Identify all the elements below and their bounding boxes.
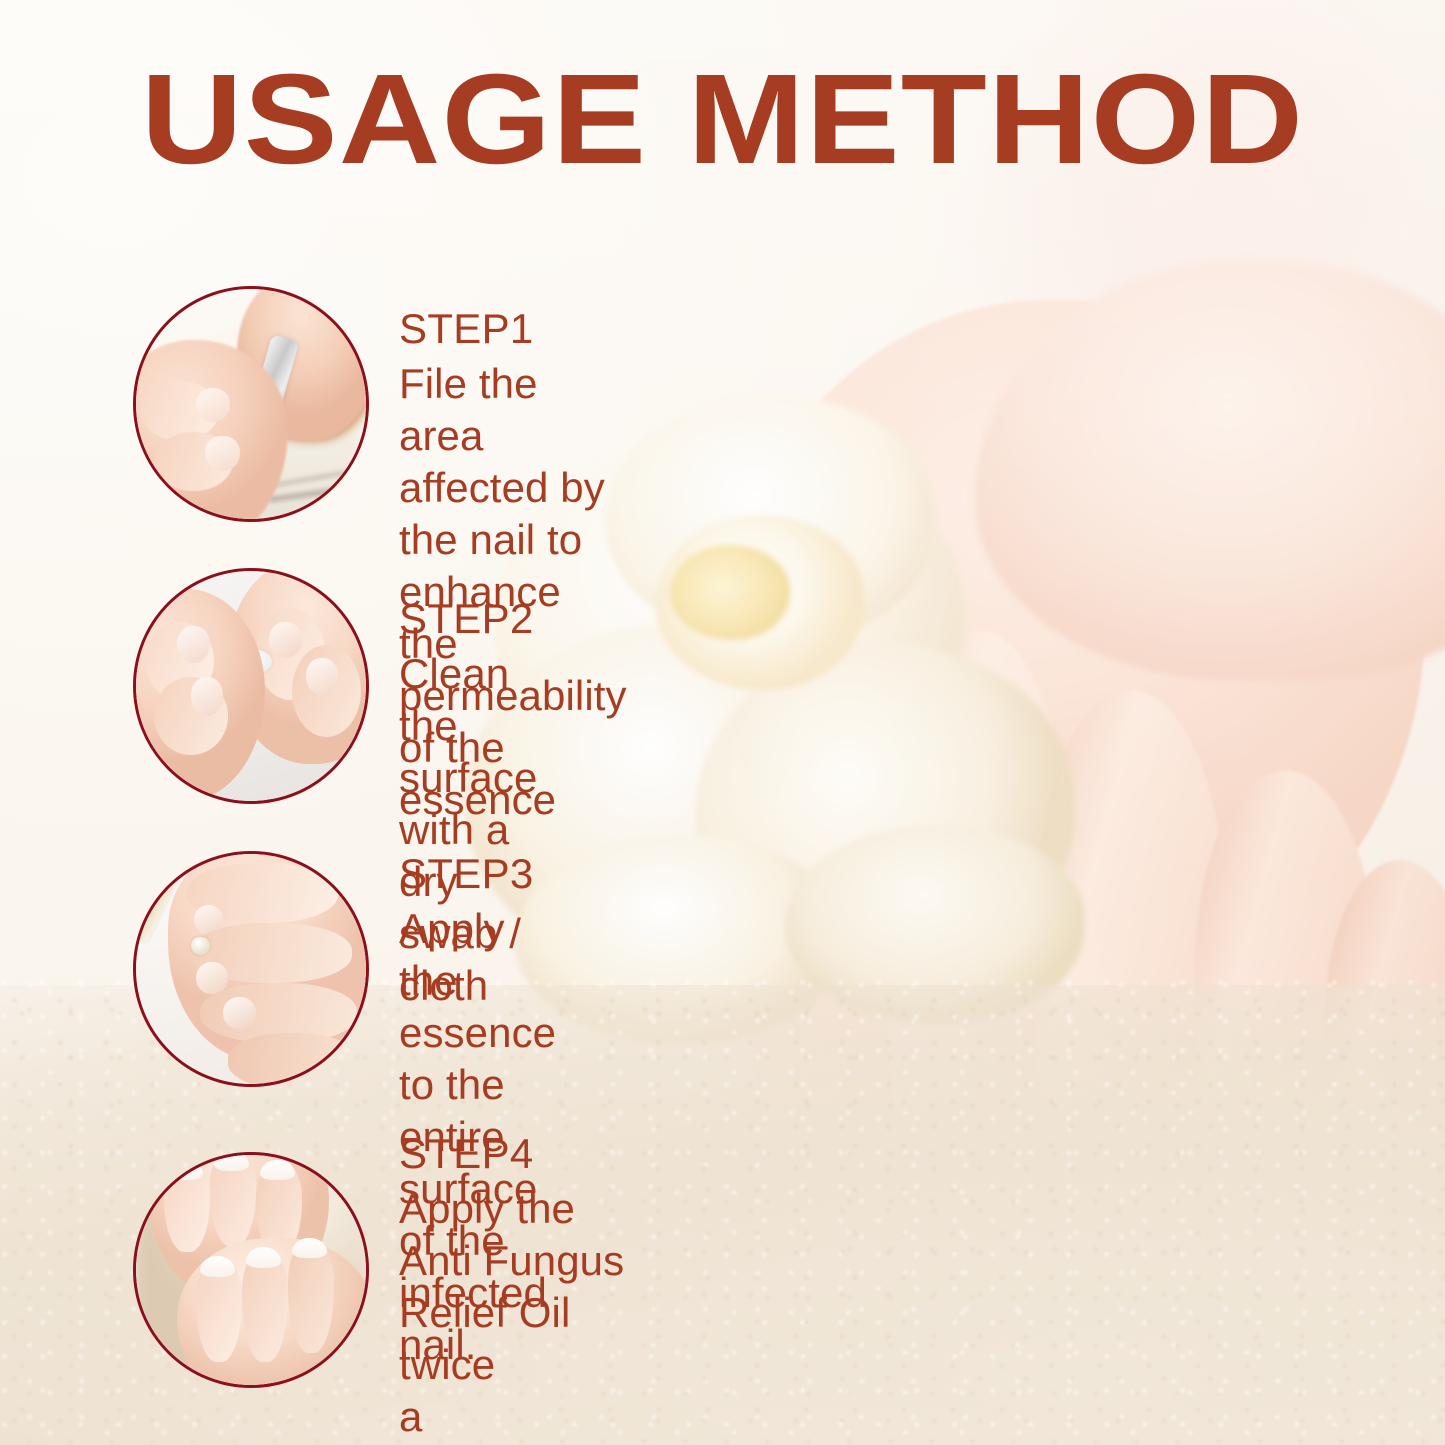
nail-filing-photo [136, 289, 366, 519]
step-4-label: STEP4 [399, 1128, 534, 1180]
step-2-label: STEP2 [399, 593, 534, 645]
step-2-image-circle [133, 568, 369, 804]
step-3-image-circle [133, 851, 369, 1087]
step-4-image-circle [133, 1152, 369, 1388]
dropper-apply-photo [136, 854, 366, 1084]
step-3-label: STEP3 [399, 848, 534, 900]
step-4-body: Apply the Anti Fungus Relief Oil twice a… [399, 1183, 634, 1445]
step-1-image-circle [133, 286, 369, 522]
page-title: USAGE METHOD [0, 56, 1445, 184]
step-1-label: STEP1 [399, 303, 534, 355]
healthy-nails-photo [136, 1155, 366, 1385]
cotton-swab-photo [136, 571, 366, 801]
usage-method-poster: USAGE METHOD STEP1 File the area affecte… [0, 0, 1445, 1445]
